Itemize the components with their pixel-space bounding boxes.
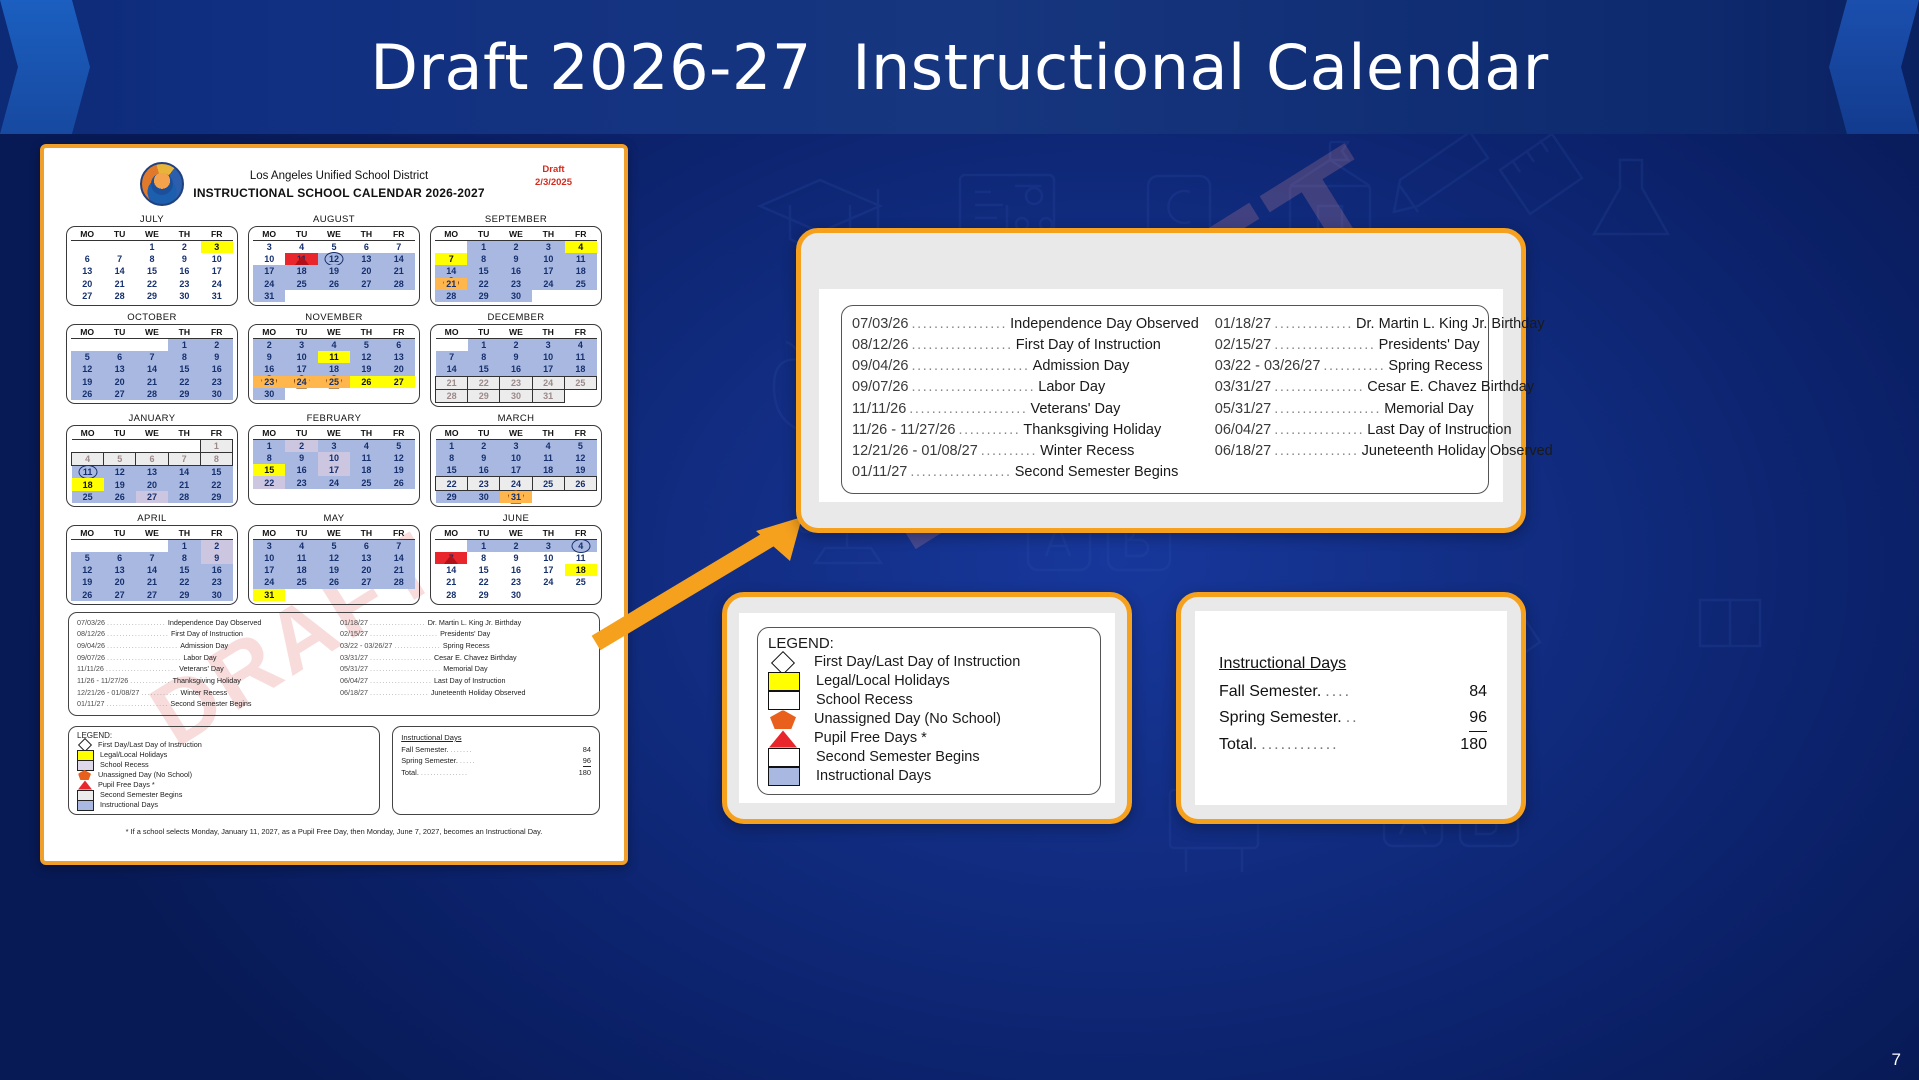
day-cell: 14 [136,363,168,375]
day-cell: 24 [532,278,564,290]
weekday-header: WE [500,428,532,440]
holiday-row: 06/04/27....................Last Day of … [340,675,591,687]
holiday-date: 01/18/27 [1215,314,1271,335]
week-row: 1112131415 [72,466,233,479]
dot-leader: ........... [955,420,1023,441]
day-cell: 1 [200,439,232,452]
holiday-date: 11/26 - 11/27/26 [77,675,128,687]
holiday-row: 03/31/27....................Cesar E. Cha… [340,652,591,664]
day-cell [350,489,382,501]
holiday-date: 09/04/26 [852,356,908,377]
week-row: 45678 [72,453,233,466]
day-cell: 24 [532,576,564,588]
day-cell: 14 [436,363,468,376]
day-cell: 31 [532,389,564,402]
instructional-days-label: Fall Semester. [401,744,448,755]
day-cell: 30 [168,290,200,302]
week-row: 2324252627 [253,376,415,388]
day-cell: 11 [350,452,382,464]
dot-leader: .................... [104,698,170,710]
day-cell: 30 [500,589,532,601]
week-row: 7891011 [436,351,597,363]
instructional-days-value: 180 [579,767,591,778]
day-cell [318,388,350,400]
day-cell: 7 [436,351,468,363]
callout-days-inner: Instructional Days Fall Semester.....84S… [1195,611,1507,805]
day-cell: 9 [201,552,233,564]
holiday-name: Veterans' Day [1031,399,1121,420]
day-cell: 10 [285,351,317,363]
month-box: MOTUWETHFR123478910111415161718212223242… [430,226,602,306]
day-cell: 26 [318,278,350,290]
week-row: 2122232425 [435,576,597,588]
holiday-row: 07/03/26...................Independence … [77,617,328,629]
legend-small: LEGEND: First Day/Last Day of Instructio… [68,726,380,815]
legend-item-label: Legal/Local Holidays [816,672,950,692]
week-row: 12 [71,338,233,351]
holiday-row: 01/18/27..................Dr. Martin L. … [340,617,591,629]
weekday-header: WE [136,428,168,440]
legend-item-label: Instructional Days [816,767,931,787]
weekday-header: FR [564,327,596,339]
dot-leader: .................... [368,652,434,664]
weekday-header: FR [201,229,233,241]
week-row: 282930 [435,290,597,302]
day-cell: 17 [285,363,317,375]
legend-large: LEGEND: First Day/Last Day of Instructio… [757,627,1101,795]
month-name: JUNE [430,513,602,524]
day-cell: 19 [383,464,415,476]
day-cell: 29 [200,491,232,503]
day-cell: 27 [103,589,135,601]
day-cell: 2 [500,539,532,552]
day-cell: 13 [136,466,168,479]
day-cell: 2 [201,539,233,552]
holiday-name: Dr. Martin L. King Jr. Birthday [428,617,521,629]
weekday-header: FR [383,528,415,540]
week-row: 1415161718 [435,265,597,277]
day-cell: 18 [72,478,104,490]
day-cell: 8 [467,253,499,265]
weekday-header: WE [136,229,168,241]
day-cell: 21 [136,576,168,588]
page-title: Draft 2026-27 Instructional Calendar [0,0,1919,134]
day-cell: 7 [435,552,467,564]
month-january: JANUARYMOTUWETHFR14567811121314151819202… [66,413,238,507]
day-cell [435,539,467,552]
district-name: Los Angeles Unified School District [193,168,484,185]
dot-leader: ............ [139,687,180,699]
holiday-name: Spring Recess [443,640,490,652]
day-cell: 10 [500,452,532,464]
week-row [253,489,415,501]
holiday-row: 09/04/26.....................Admission D… [852,356,1199,377]
day-cell: 5 [318,241,350,254]
week-row: 34567 [253,539,415,552]
day-cell: 13 [103,363,135,375]
weekday-header: TU [285,428,317,440]
day-cell: 17 [532,363,564,376]
week-row: 2728293031 [71,290,233,302]
dot-leader: .................... [105,628,171,640]
holiday-row: 09/07/26......................Labor Day [852,377,1199,398]
weekday-header: TU [103,327,135,339]
day-cell: 6 [103,351,135,363]
dot-leader: ........... [1320,356,1388,377]
holiday-date: 09/04/26 [77,640,105,652]
day-cell: 10 [253,552,285,564]
day-cell: 28 [435,589,467,601]
weekday-header: TH [532,229,564,241]
day-cell: 19 [350,363,382,375]
day-cell: 13 [350,552,382,564]
day-cell: 11 [532,452,564,464]
day-cell [532,290,564,302]
day-cell: 16 [201,564,233,576]
calendar-doc-title: INSTRUCTIONAL SCHOOL CALENDAR 2026-2027 [193,186,484,200]
week-row: 678910 [71,253,233,265]
day-cell: 24 [201,278,233,290]
holiday-name: First Day of Instruction [1016,335,1161,356]
day-cell: 11 [285,552,317,564]
month-name: MARCH [430,413,602,424]
dot-leader: ................... [1271,399,1384,420]
month-august: AUGUSTMOTUWETHFR345671011121314171819202… [248,214,420,306]
day-cell: 20 [103,376,135,388]
weekday-header: MO [253,528,285,540]
day-cell: 17 [532,564,564,576]
callout-legend-inner: LEGEND: First Day/Last Day of Instructio… [739,613,1115,803]
day-cell: 29 [136,290,168,302]
week-row: 31 [253,589,415,601]
day-cell: 7 [136,351,168,363]
slide-page-number: 7 [1892,1050,1901,1070]
holiday-date: 03/22 - 03/26/27 [340,640,392,652]
holiday-name: Veterans' Day [179,663,224,675]
day-cell: 2 [285,439,317,452]
day-cell: 30 [468,490,500,503]
dot-leader: ..... [458,755,478,767]
holiday-row: 09/07/26........................Labor Da… [77,652,328,664]
weekday-header: WE [500,327,532,339]
day-cell: 13 [383,351,415,363]
holiday-list-small-right: 01/18/27..................Dr. Martin L. … [340,617,591,710]
day-cell: 16 [500,265,532,277]
weekday-header: TH [168,327,200,339]
month-box: MOTUWETHFR123458910111215161718192223242… [430,425,602,507]
dot-leader: ................. [908,314,1010,335]
legend-item: Instructional Days [768,767,1090,786]
day-cell: 7 [383,539,415,552]
day-cell [532,490,564,503]
day-cell: 16 [201,363,233,375]
day-cell: 2 [468,439,500,452]
day-cell: 3 [532,539,564,552]
day-cell: 7 [103,253,135,265]
day-cell [103,241,135,254]
dot-leader: .... [1321,679,1355,705]
holiday-row: 03/22 - 03/26/27...........Spring Recess [1215,356,1553,377]
day-cell: 21 [383,265,415,277]
day-cell [285,388,317,400]
day-cell: 23 [500,576,532,588]
day-cell: 2 [500,338,532,351]
diamond-swatch-icon [768,654,798,671]
day-cell: 15 [467,265,499,277]
holiday-name: Thanksgiving Holiday [1023,420,1161,441]
day-cell: 23 [500,376,532,389]
instructional-days-row: Total.............180 [1219,732,1487,758]
day-cell: 9 [468,452,500,464]
weekday-header: MO [72,428,104,440]
day-cell: 16 [468,464,500,477]
day-cell: 31 [500,490,532,503]
month-box: MOTUWETHFR123478910111415161718212223242… [430,324,602,407]
day-cell: 20 [136,478,168,490]
day-cell: 26 [564,477,596,490]
weekday-header: WE [500,528,532,540]
day-cell: 21 [383,564,415,576]
holiday-list-large-left: 07/03/26.................Independence Da… [852,314,1199,483]
holiday-row: 06/18/27...................Juneteenth Ho… [340,687,591,699]
holiday-row: 08/12/26..................First Day of I… [852,335,1199,356]
legend-item-label: Unassigned Day (No School) [814,710,1001,730]
day-cell: 8 [253,452,285,464]
weekday-header: FR [200,428,232,440]
holiday-date: 06/18/27 [340,687,368,699]
dot-leader: ................... [368,687,431,699]
day-cell: 17 [532,265,564,277]
weekday-header: TU [468,327,500,339]
holiday-row: 02/15/27..................Presidents' Da… [1215,335,1553,356]
day-cell: 24 [318,476,350,488]
day-cell [285,290,317,302]
legend-item-label: Second Semester Begins [816,748,980,768]
day-cell: 26 [71,589,103,601]
day-cell: 27 [136,491,168,503]
dot-leader: .......... [978,441,1040,462]
weekday-header: TU [104,428,136,440]
calendar-header: Los Angeles Unified School District INST… [58,158,610,210]
day-cell: 29 [436,490,468,503]
day-cell: 21 [136,376,168,388]
holiday-name: First Day of Instruction [171,628,243,640]
month-july: JULYMOTUWETHFR12367891013141516172021222… [66,214,238,306]
week-row: 123 [71,241,233,254]
week-row: 12345 [436,439,597,452]
instructional-days-label: Total. [401,767,419,778]
month-box: MOTUWETHFR123478910111415161718212223242… [430,525,602,605]
holiday-name: Presidents' Day [440,628,490,640]
week-row: 910111213 [253,351,415,363]
legend-item-label: School Recess [816,691,913,711]
day-cell: 10 [253,253,285,265]
holiday-row: 01/11/27..................Second Semeste… [852,462,1199,483]
holiday-date: 01/18/27 [340,617,368,629]
day-cell: 24 [285,376,317,388]
callout-instructional-days[interactable]: Instructional Days Fall Semester.....84S… [1176,592,1526,824]
holiday-row: 08/12/26....................First Day of… [77,628,328,640]
day-cell: 12 [564,452,596,464]
legend-item-label: Unassigned Day (No School) [98,770,192,780]
dot-leader: .................. [908,335,1015,356]
week-row: 1516171819 [436,464,597,477]
day-cell: 3 [253,241,285,254]
month-name: SEPTEMBER [430,214,602,225]
holiday-row: 01/11/27....................Second Semes… [77,698,328,710]
day-cell: 7 [136,552,168,564]
week-row: 1920212223 [71,576,233,588]
day-cell: 25 [72,491,104,503]
dot-leader: ................ [1271,420,1367,441]
month-name: NOVEMBER [248,312,420,323]
week-row: 2627282930 [71,388,233,400]
day-cell: 12 [318,552,350,564]
draft-stamp-label: Draft [535,164,572,177]
day-cell: 27 [136,589,168,601]
legend-item-label: First Day/Last Day of Instruction [814,653,1020,673]
holiday-date: 12/21/26 - 01/08/27 [77,687,139,699]
callout-holiday-list[interactable]: 07/03/26.................Independence Da… [796,228,1526,533]
month-name: OCTOBER [66,312,238,323]
holiday-name: Juneteenth Holiday Observed [431,687,526,699]
holiday-row: 03/22 - 03/26/27...............Spring Re… [340,640,591,652]
day-cell: 29 [168,388,200,400]
weekday-header: TH [350,327,382,339]
day-cell: 24 [253,576,285,588]
callout-legend[interactable]: LEGEND: First Day/Last Day of Instructio… [722,592,1132,824]
holiday-row: 02/15/27......................Presidents… [340,628,591,640]
week-row: 1516171819 [253,464,415,476]
day-cell: 5 [564,439,596,452]
legend-item-label: First Day/Last Day of Instruction [98,740,202,750]
day-cell: 22 [467,576,499,588]
day-cell [71,539,103,552]
holiday-date: 02/15/27 [340,628,368,640]
day-cell: 27 [350,278,382,290]
day-cell: 1 [468,338,500,351]
holiday-name: Independence Day Observed [1010,314,1199,335]
day-cell: 29 [468,389,500,402]
day-cell: 2 [201,338,233,351]
instructional-days-value: 84 [583,744,591,755]
day-cell: 18 [318,363,350,375]
day-cell: 17 [201,265,233,277]
week-row: 1415161718 [435,564,597,576]
day-cell: 22 [200,478,232,490]
holiday-name: Second Semester Begins [1015,462,1179,483]
day-cell: 26 [350,376,382,388]
holiday-row: 05/31/27...................Memorial Day [1215,399,1553,420]
holiday-list-large-right: 01/18/27..............Dr. Martin L. King… [1215,314,1553,483]
day-cell: 9 [168,253,200,265]
instructional-days-row: Spring Semester......96 [401,755,591,767]
day-cell: 23 [168,278,200,290]
day-cell: 26 [71,388,103,400]
holiday-date: 06/04/27 [1215,420,1271,441]
day-cell: 20 [383,363,415,375]
day-cell: 27 [71,290,103,302]
legend-item: School Recess [77,760,371,770]
dot-leader: ..................... [908,356,1032,377]
holiday-name: Juneteenth Holiday Observed [1362,441,1553,462]
month-name: JULY [66,214,238,225]
day-cell: 11 [565,253,597,265]
dot-leader: ............... [392,640,442,652]
day-cell: 8 [468,351,500,363]
day-cell: 22 [168,376,200,388]
weekday-header: MO [435,528,467,540]
day-cell: 25 [318,376,350,388]
day-cell: 20 [103,576,135,588]
holiday-name: Last Day of Instruction [434,675,506,687]
holiday-name: Memorial Day [1384,399,1473,420]
day-cell: 6 [103,552,135,564]
day-cell [72,439,104,452]
holiday-name: Thanksgiving Holiday [173,675,241,687]
day-cell: 15 [253,464,285,476]
holiday-name: Labor Day [1038,377,1105,398]
day-cell: 23 [201,576,233,588]
dot-leader: .................. [368,617,428,629]
day-cell: 10 [532,552,564,564]
day-cell: 12 [71,564,103,576]
day-cell: 21 [103,278,135,290]
weekday-header: FR [564,428,596,440]
day-cell: 19 [318,564,350,576]
weekday-header: TU [467,528,499,540]
day-cell: 2 [168,241,200,254]
day-cell: 14 [103,265,135,277]
instructional-days-label: Spring Semester. [401,755,458,767]
holiday-row: 01/18/27..............Dr. Martin L. King… [1215,314,1553,335]
day-cell: 13 [71,265,103,277]
day-cell: 14 [383,552,415,564]
holiday-date: 06/04/27 [340,675,368,687]
day-cell: 3 [500,439,532,452]
day-cell [564,389,596,402]
day-cell [435,241,467,254]
week-row: 31 [253,290,415,302]
day-cell: 11 [318,351,350,363]
month-name: DECEMBER [430,312,602,323]
day-cell: 26 [383,476,415,488]
week-row: 1011121314 [253,253,415,265]
legend-item-label: Second Semester Begins [100,790,182,800]
calendar-page-thumbnail[interactable]: DRAFT Los Angeles Unified School Distric… [40,144,628,865]
weekday-header: TH [532,428,564,440]
week-row: 1234 [435,539,597,552]
day-cell: 6 [350,241,382,254]
weekday-header: TH [168,229,200,241]
legend-item-label: Pupil Free Days * [814,729,927,749]
instructional-days-row: Fall Semester........84 [401,744,591,755]
day-cell: 9 [500,351,532,363]
day-cell: 8 [136,253,168,265]
legend-item: School Recess [768,691,1090,710]
day-cell: 29 [467,589,499,601]
day-cell: 6 [136,453,168,466]
week-row: 2021222324 [71,278,233,290]
month-name: JANUARY [66,413,238,424]
weekday-header: TU [103,229,135,241]
day-cell [285,589,317,601]
day-cell: 14 [136,564,168,576]
day-cell: 24 [532,376,564,389]
day-cell: 4 [72,453,104,466]
day-cell: 15 [168,363,200,375]
day-cell: 12 [318,253,350,265]
